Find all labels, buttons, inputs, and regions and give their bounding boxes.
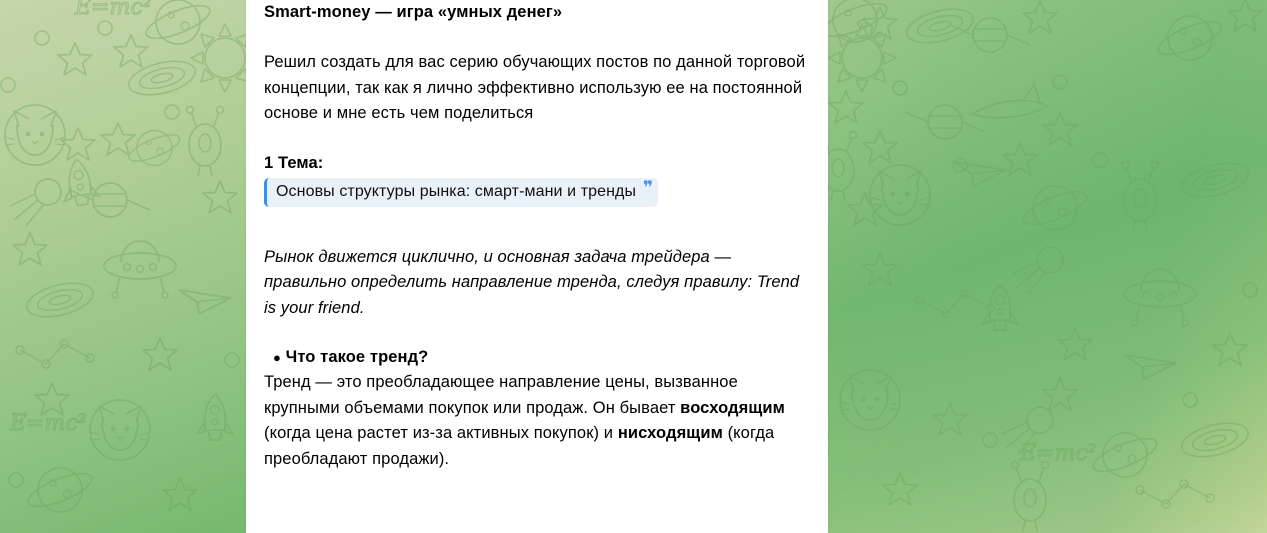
spacer (264, 321, 810, 345)
quote-mark-icon: ❞ (643, 179, 653, 196)
spacer (264, 207, 810, 232)
bullet-heading-text: Что такое тренд? (286, 348, 429, 366)
definition-part-2: (когда цена растет из-за активных покупо… (264, 424, 618, 442)
spacer (264, 25, 810, 50)
message-title: Smart-money — игра «умных денег» (264, 0, 810, 25)
bullet-heading: ● Что такое тренд? (264, 345, 810, 370)
definition-part-1: Тренд — это преобладающее направление це… (264, 373, 738, 417)
spacer (264, 232, 810, 245)
definition-bold-uptrend: восходящим (680, 399, 785, 417)
message-bubble[interactable]: Smart-money — игра «умных денег» Решил с… (246, 0, 828, 533)
blockquote-text: Основы структуры рынка: смарт-мани и тре… (276, 183, 636, 200)
spacer (264, 127, 810, 151)
topic-label: 1 Тема: (264, 151, 810, 176)
bullet-dot-icon: ● (273, 350, 281, 365)
definition-bold-downtrend: нисходящим (618, 424, 723, 442)
chat-screen: E=mc² (0, 0, 1267, 533)
italic-paragraph: Рынок движется циклично, и основная зада… (264, 245, 810, 322)
message-intro-paragraph: Решил создать для вас серию обучающих по… (264, 50, 810, 127)
definition-paragraph: Тренд — это преобладающее направление це… (264, 370, 810, 472)
blockquote[interactable]: Основы структуры рынка: смарт-мани и тре… (264, 178, 658, 207)
blockquote-wrapper: Основы структуры рынка: смарт-мани и тре… (264, 176, 810, 207)
message-text: Smart-money — игра «умных денег» Решил с… (264, 0, 810, 472)
